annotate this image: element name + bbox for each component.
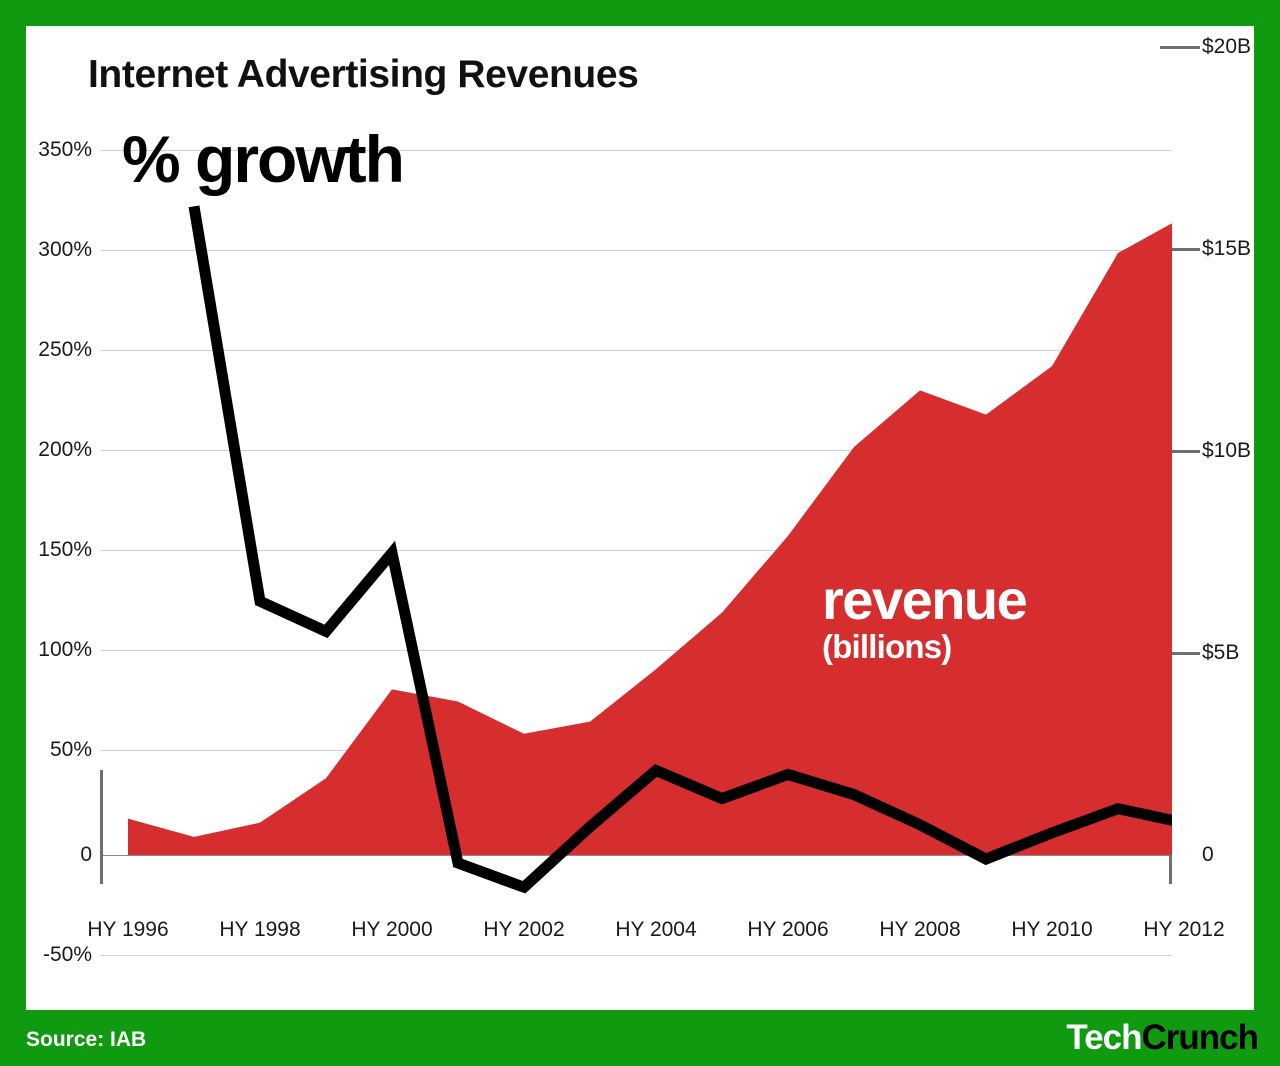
ytick-left-350: 350% xyxy=(2,138,92,162)
ytick-left-250: 250% xyxy=(2,338,92,362)
ytick-left-0: 0 xyxy=(2,843,92,867)
revenue-series-annotation: revenue (billions) xyxy=(822,571,1026,665)
xtick-hy2008: HY 2008 xyxy=(879,918,960,942)
ytick-left-minus50: -50% xyxy=(2,943,92,967)
ytick-right-0: 0 xyxy=(1202,843,1214,867)
source-note: Source: IAB xyxy=(26,1028,146,1052)
logo-part-tech: Tech xyxy=(1066,1018,1141,1057)
ytick-right-15b: $15B xyxy=(1202,237,1251,261)
revenue-area-series xyxy=(128,217,1172,855)
revenue-annotation-main: revenue xyxy=(822,571,1026,629)
chart-canvas: Internet Advertising Revenues 350% 300% … xyxy=(26,26,1254,1010)
chart-frame: Internet Advertising Revenues 350% 300% … xyxy=(0,0,1280,1066)
xtick-hy1996: HY 1996 xyxy=(87,918,168,942)
xtick-hy2012: HY 2012 xyxy=(1143,918,1224,942)
ytick-left-200: 200% xyxy=(2,438,92,462)
ytick-left-100: 100% xyxy=(2,638,92,662)
xtick-hy2010: HY 2010 xyxy=(1011,918,1092,942)
growth-series-annotation: % growth xyxy=(122,121,403,197)
revenue-annotation-sub: (billions) xyxy=(822,629,1026,665)
xtick-hy2004: HY 2004 xyxy=(615,918,696,942)
xtick-hy1998: HY 1998 xyxy=(219,918,300,942)
xtick-hy2006: HY 2006 xyxy=(747,918,828,942)
ytick-right-10b: $10B xyxy=(1202,439,1251,463)
ytick-left-300: 300% xyxy=(2,238,92,262)
techcrunch-logo: TechCrunch xyxy=(1066,1018,1258,1058)
ytick-right-5b: $5B xyxy=(1202,641,1239,665)
plot-area: 350% 300% 250% 200% 150% 100% 50% 0 -50%… xyxy=(100,26,1172,1010)
ytick-left-150: 150% xyxy=(2,538,92,562)
xtick-hy2000: HY 2000 xyxy=(351,918,432,942)
logo-part-crunch: Crunch xyxy=(1142,1018,1259,1057)
xtick-hy2002: HY 2002 xyxy=(483,918,564,942)
ytick-left-50: 50% xyxy=(2,738,92,762)
ytick-right-20b: $20B xyxy=(1202,35,1251,59)
